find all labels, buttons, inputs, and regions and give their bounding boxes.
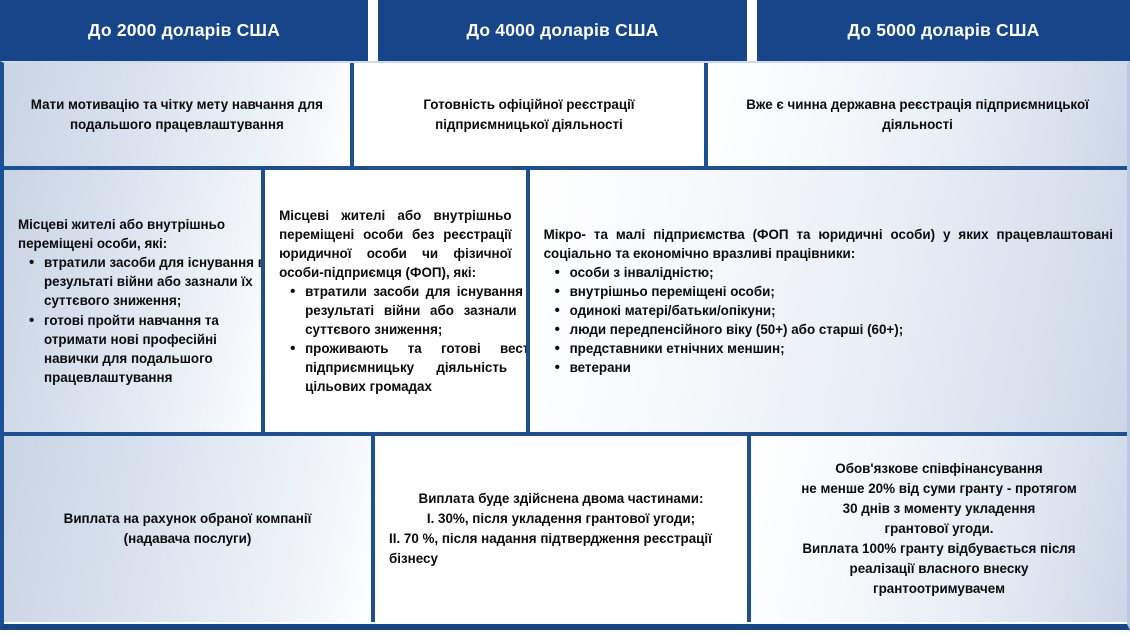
payment-line: (надавача послуги) [124, 529, 252, 549]
payment-line: Виплата 100% гранту відбувається після [802, 539, 1075, 559]
payment-line: 30 днів з моменту укладення [843, 499, 1036, 519]
table-row-eligibility: Місцеві жителі або внутрішньо переміщені… [4, 170, 1127, 436]
list-item: внутрішньо переміщені особи; [570, 282, 1127, 301]
table-row-requirement: Мати мотивацію та чітку мету навчання дл… [4, 63, 1127, 170]
list-item: втратили засоби для існування в результа… [305, 282, 529, 339]
payment-line: II. 70 %, після надання підтвердження ре… [389, 529, 733, 569]
eligibility-list: втратили засоби для існування в результа… [279, 282, 529, 396]
list-item: проживають та готові вести підприємницьк… [305, 339, 529, 396]
header-gap-1 [368, 0, 378, 61]
payment-cell-5000: Обов'язкове співфінансування не менше 20… [751, 436, 1127, 622]
payment-line: Виплата буде здійснена двома частинами: [419, 489, 704, 509]
list-item: одинокі матері/батьки/опікуни; [570, 301, 1127, 320]
header-gap-2 [747, 0, 757, 61]
eligibility-intro: Місцеві жителі або внутрішньо переміщені… [18, 215, 247, 253]
column-header-label: До 5000 доларів США [847, 20, 1039, 41]
column-header-4000: До 4000 доларів США [378, 0, 747, 61]
table-row-payment: Виплата на рахунок обраної компанії (над… [4, 436, 1127, 622]
payment-cell-4000: Виплата буде здійснена двома частинами: … [375, 436, 751, 622]
list-item: готові пройти навчання та отримати нові … [44, 311, 265, 387]
requirement-cell-5000: Вже є чинна державна реєстрація підприєм… [708, 63, 1127, 166]
list-item: втратили засоби для існування в результа… [44, 253, 265, 310]
list-item: особи з інвалідністю; [570, 263, 1127, 282]
requirement-text: Готовність офіційної реєстрації підприєм… [368, 95, 690, 133]
eligibility-cell-5000: Мікро- та малі підприємства (ФОП та юрид… [530, 170, 1127, 432]
eligibility-list: втратили засоби для існування в результа… [18, 253, 265, 386]
eligibility-cell-2000: Місцеві жителі або внутрішньо переміщені… [4, 170, 265, 432]
eligibility-intro: Місцеві жителі або внутрішньо переміщені… [279, 206, 511, 282]
list-item: ветерани [570, 358, 1127, 377]
column-header-label: До 2000 доларів США [88, 20, 280, 41]
table-body: Мати мотивацію та чітку мету навчання дл… [0, 61, 1130, 630]
payment-cell-2000: Виплата на рахунок обраної компанії (над… [4, 436, 375, 622]
requirement-cell-2000: Мати мотивацію та чітку мету навчання дл… [4, 63, 354, 166]
payment-line: грантової угоди. [885, 519, 994, 539]
requirement-text: Мати мотивацію та чітку мету навчання дл… [18, 95, 336, 133]
eligibility-intro: Мікро- та малі підприємства (ФОП та юрид… [544, 225, 1113, 263]
payment-line: Виплата на рахунок обраної компанії [64, 509, 312, 529]
requirement-text: Вже є чинна державна реєстрація підприєм… [722, 95, 1113, 133]
payment-line: грантоотримувачем [873, 579, 1005, 599]
list-item: люди передпенсійного віку (50+) або стар… [570, 320, 1127, 339]
payment-line: реалізації власного внеску [850, 559, 1029, 579]
column-header-2000: До 2000 доларів США [0, 0, 368, 61]
payment-line: Обов'язкове співфінансування [835, 459, 1042, 479]
column-header-label: До 4000 доларів США [466, 20, 658, 41]
payment-line: не менше 20% від суми гранту - протягом [801, 479, 1077, 499]
requirement-cell-4000: Готовність офіційної реєстрації підприєм… [354, 63, 708, 166]
payment-line: I. 30%, після укладення грантової угоди; [427, 509, 695, 529]
table-header-row: До 2000 доларів США До 4000 доларів США … [0, 0, 1130, 61]
column-header-5000: До 5000 доларів США [757, 0, 1130, 61]
eligibility-cell-4000: Місцеві жителі або внутрішньо переміщені… [265, 170, 529, 432]
eligibility-list: особи з інвалідністю; внутрішньо переміщ… [544, 263, 1127, 377]
grant-comparison-table: До 2000 доларів США До 4000 доларів США … [0, 0, 1130, 636]
list-item: представники етнічних меншин; [570, 339, 1127, 358]
